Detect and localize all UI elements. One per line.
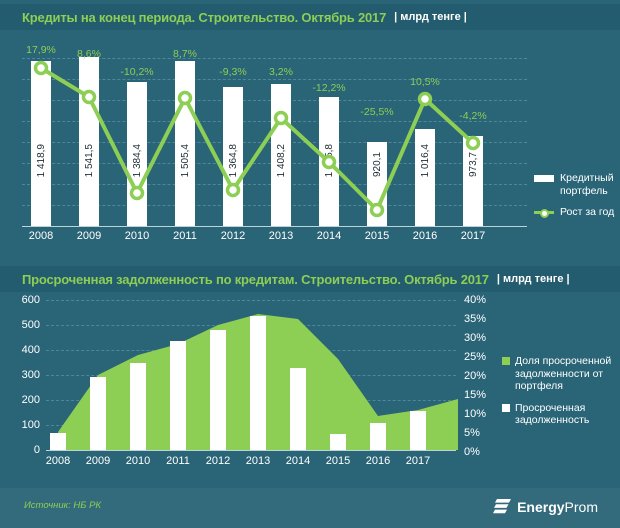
chart-bottom-unit: | млрд тенге |: [497, 273, 570, 285]
bar-overdue-2013: [250, 316, 266, 450]
legend-item-growth: Рост за год: [534, 206, 620, 219]
source-note: Источник: НБ РК: [24, 500, 101, 511]
y-right-40: 40%: [464, 294, 504, 306]
pct-label-2017: -4,2%: [443, 110, 503, 122]
chart-bottom-header: Просроченная задолженность по кредитам. …: [0, 266, 620, 292]
line-point-2012: [228, 185, 239, 196]
legend-item-credit-portfolio: Кредитный портфель: [534, 172, 620, 197]
line-point-2013: [276, 113, 287, 124]
legend-label-growth: Рост за год: [560, 206, 614, 219]
chart-bottom-title: Просроченная задолженность по кредитам. …: [0, 272, 489, 287]
pct-label-2016: 10,5%: [395, 76, 455, 88]
bar-overdue-2011: [170, 341, 186, 450]
chart-top-title: Кредиты на конец периода. Строительство.…: [0, 10, 386, 25]
bar-overdue-2017: [410, 411, 426, 450]
pct-label-2013: 3,2%: [251, 66, 311, 78]
line-point-2015: [372, 205, 383, 216]
legend-item-overdue: Просроченная задолженность: [502, 402, 620, 427]
y-right-5: 5%: [464, 427, 504, 439]
chart-top-legend: Кредитный портфель Рост за год: [534, 172, 620, 228]
y-right-20: 20%: [464, 370, 504, 382]
bar-overdue-2012: [210, 330, 226, 450]
pct-label-2010: -10,2%: [107, 66, 167, 78]
pct-label-2009: 8,6%: [59, 48, 119, 60]
chart-bottom-legend: Доля просроченной задолженности от портф…: [502, 355, 620, 436]
chart-top-plot: 1 418,9 1 541,5 1 384,4 1 505,4 1 364,8 …: [0, 34, 620, 266]
chart-top-header: Кредиты на конец периода. Строительство.…: [0, 4, 620, 30]
bar-overdue-2009: [90, 377, 106, 450]
brand-logo: EnergyProm: [493, 498, 598, 515]
pct-label-2014: -12,2%: [299, 82, 359, 94]
y-right-15: 15%: [464, 389, 504, 401]
brand-energy: Energy: [517, 499, 564, 515]
chart-top-unit: | млрд тенге |: [394, 11, 467, 23]
energyprom-mark-icon: [493, 498, 513, 515]
bar-overdue-2010: [130, 363, 146, 450]
pct-label-2011: 8,7%: [155, 48, 215, 60]
bar-overdue-2008: [50, 433, 66, 450]
legend-label-share: Доля просроченной задолженности от портф…: [515, 355, 620, 393]
pct-label-2015: -25,5%: [347, 106, 407, 118]
x-label-2017: 2017: [443, 230, 503, 242]
line-point-2014: [324, 157, 335, 168]
green-square-icon: [502, 357, 510, 365]
line-point-2009: [84, 92, 95, 103]
y-right-0: 0%: [464, 446, 504, 458]
legend-item-share: Доля просроченной задолженности от портф…: [502, 355, 620, 393]
legend-label-credit-portfolio: Кредитный портфель: [560, 172, 620, 197]
legend-label-overdue: Просроченная задолженность: [515, 402, 620, 427]
x-axis-line: [22, 226, 527, 227]
y-right-25: 25%: [464, 351, 504, 363]
y-right-30: 30%: [464, 332, 504, 344]
line-point-2011: [180, 93, 191, 104]
bar-overdue-2014: [290, 368, 306, 450]
x-label-2017: 2017: [388, 455, 448, 467]
white-square-icon: [502, 404, 510, 412]
bar-overdue-2016: [370, 423, 386, 450]
x-axis-line: [46, 450, 456, 451]
bar-swatch-icon: [534, 175, 554, 182]
line-point-2017: [468, 138, 479, 149]
brand-prom: Prom: [565, 499, 598, 515]
footer-band: Источник: НБ РК EnergyProm: [0, 488, 620, 528]
line-point-2016: [420, 94, 431, 105]
line-swatch-icon: [534, 208, 554, 217]
y-right-35: 35%: [464, 313, 504, 325]
line-point-2008: [36, 63, 47, 74]
brand-name: EnergyProm: [517, 499, 598, 515]
bar-overdue-2015: [330, 434, 346, 450]
y-right-10: 10%: [464, 408, 504, 420]
infographic-page: Кредиты на конец периода. Строительство.…: [0, 0, 620, 528]
line-point-2010: [132, 188, 143, 199]
